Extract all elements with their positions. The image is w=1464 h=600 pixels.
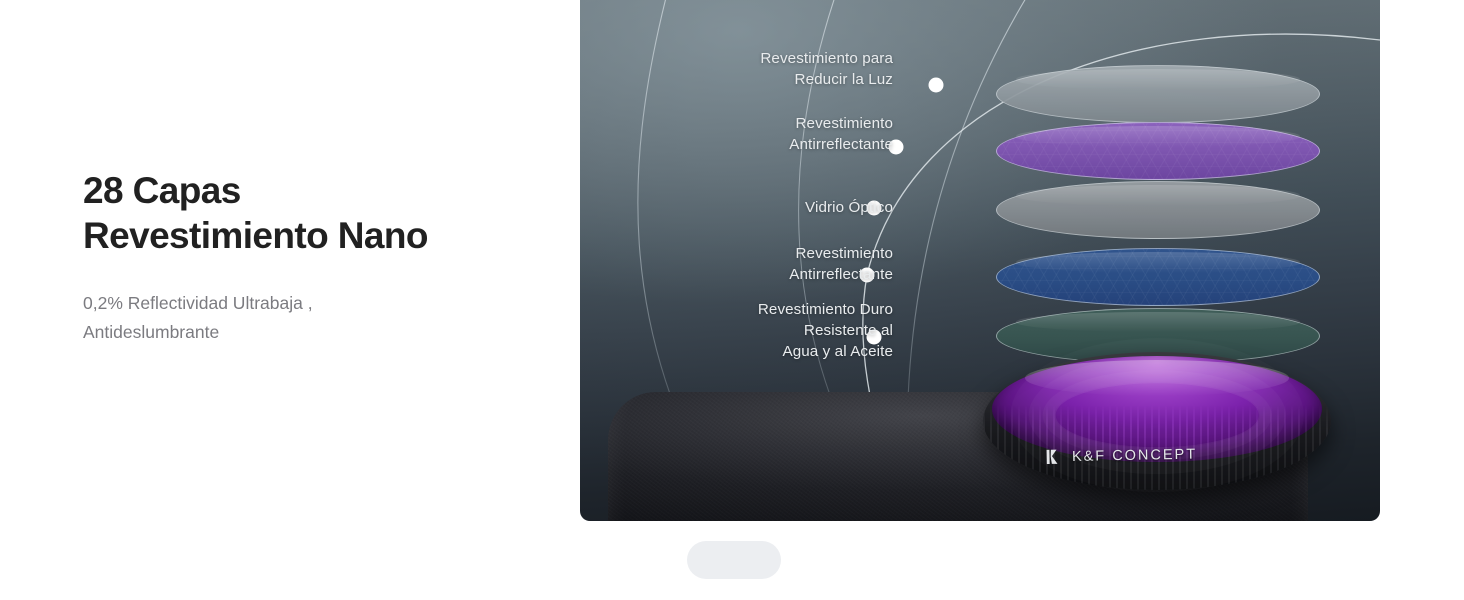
callout-label-2: Revestimiento Antirreflectante [593, 113, 893, 155]
product-image-panel: K&F CONCEPT Revestimiento para Reducir l… [580, 0, 1380, 521]
page-subtitle: 0,2% Reflectividad Ultrabaja , Antideslu… [83, 289, 553, 347]
bottom-pill-button[interactable] [687, 541, 781, 579]
feature-copy-block: 28 Capas Revestimiento Nano 0,2% Reflect… [83, 168, 553, 347]
callout-label-1: Revestimiento para Reducir la Luz [593, 48, 893, 90]
callout-labels: Revestimiento para Reducir la Luz Revest… [580, 0, 1380, 521]
callout-label-3: Vidrio Óptico [593, 197, 893, 218]
page-title: 28 Capas Revestimiento Nano [83, 168, 553, 258]
product-feature-banner: 28 Capas Revestimiento Nano 0,2% Reflect… [0, 0, 1464, 600]
callout-label-4: Revestimiento Antirreflectante [593, 243, 893, 285]
callout-label-5: Revestimiento Duro Resistente al Agua y … [593, 299, 893, 362]
